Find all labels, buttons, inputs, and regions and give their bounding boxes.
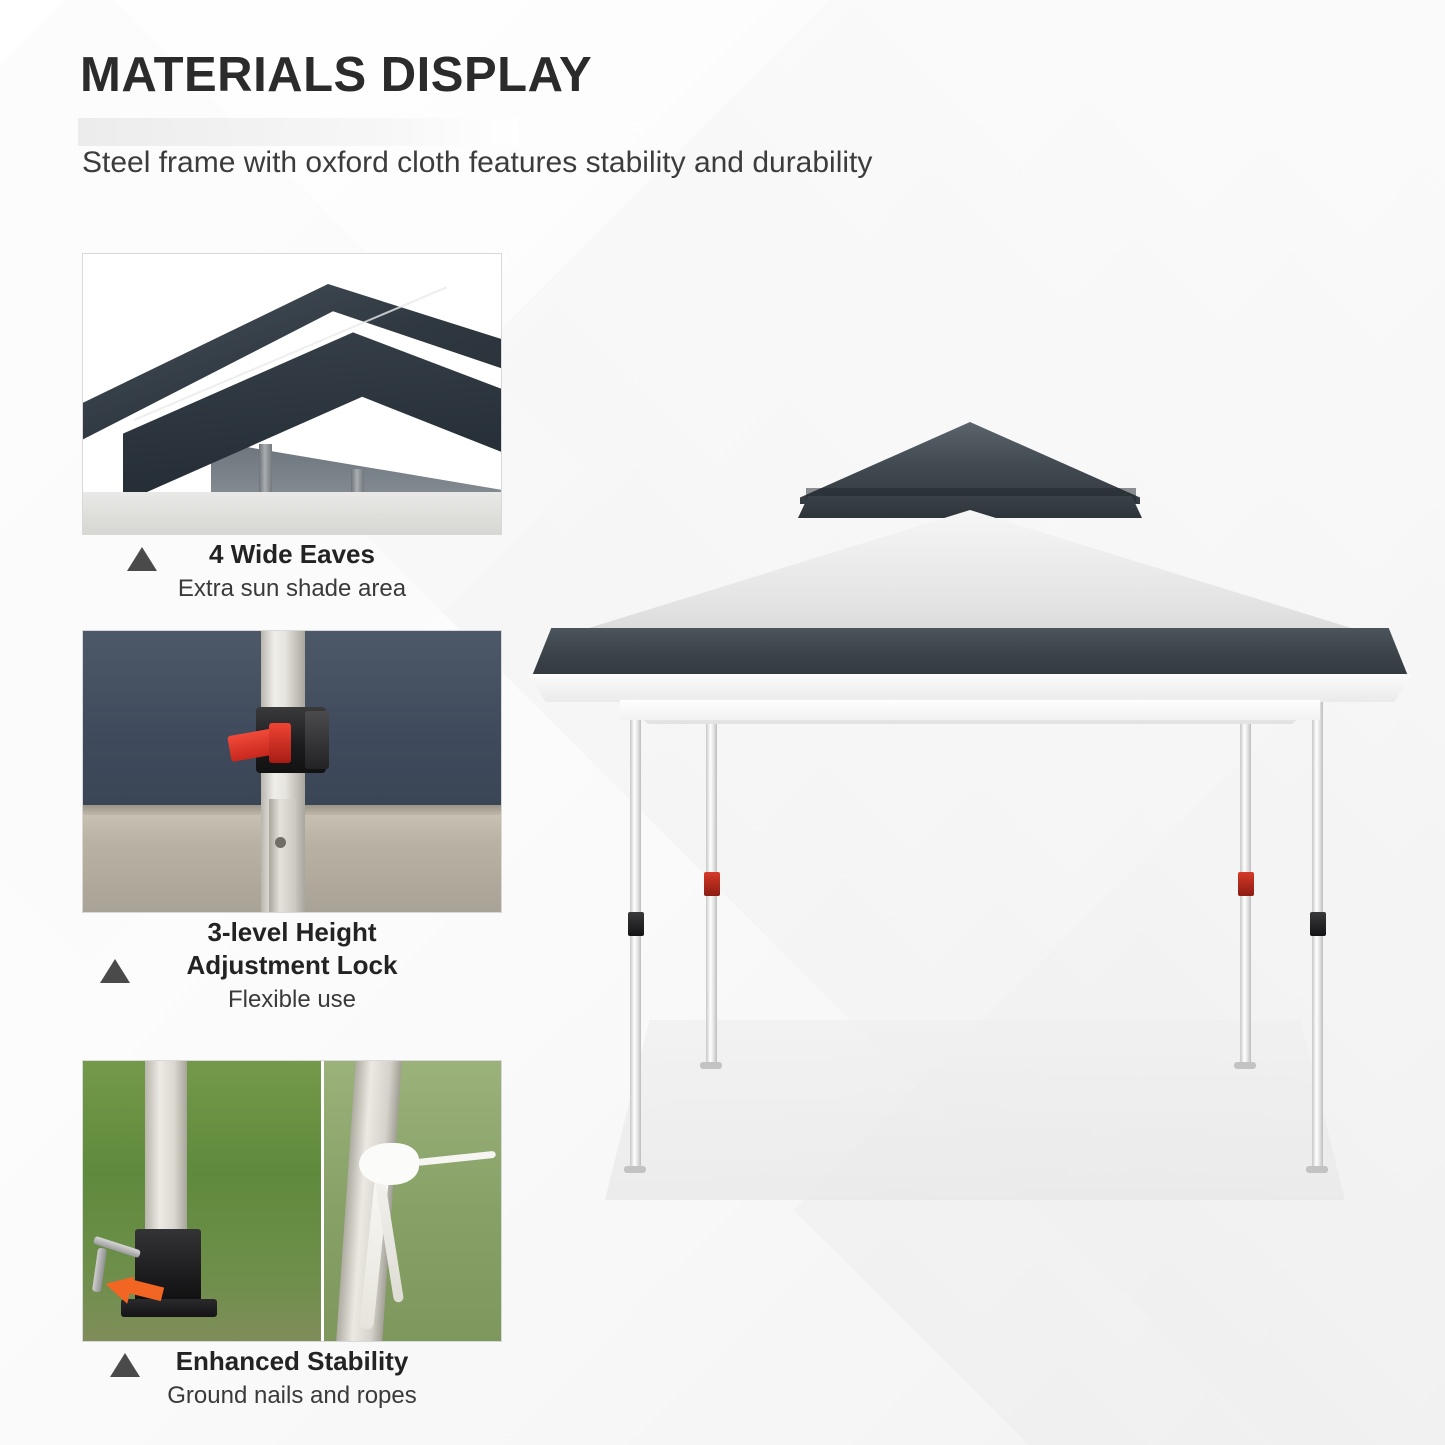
lock-housing-side <box>305 711 329 769</box>
feature-caption-eaves: 4 Wide Eaves Extra sun shade area <box>82 538 502 604</box>
gazebo-foot-front-right <box>1306 1166 1328 1173</box>
gazebo-valance <box>620 700 1320 720</box>
feature-subtext-eaves: Extra sun shade area <box>82 573 502 604</box>
feature-caption-stability: Enhanced Stability Ground nails and rope… <box>82 1345 502 1411</box>
gazebo-lock-front-right <box>1310 912 1326 936</box>
title-highlight-bar <box>78 118 518 146</box>
product-image-gazebo <box>510 400 1430 1200</box>
stability-base-plate <box>121 1299 217 1317</box>
lock-red-lever-face <box>269 723 291 763</box>
feature-caption-height-lock: 3-level Height Adjustment Lock Flexible … <box>82 916 502 1015</box>
gazebo-foot-back-right <box>1234 1062 1256 1069</box>
feature-image-height-lock <box>82 630 502 913</box>
feature-image-eaves <box>82 253 502 535</box>
gazebo-lock-back-left <box>704 872 720 896</box>
lock-pin-hole <box>275 837 286 848</box>
gazebo-eave <box>528 674 1412 702</box>
page-subtitle: Steel frame with oxford cloth features s… <box>82 146 872 180</box>
gazebo-roof-dark-band <box>532 628 1408 676</box>
stability-photo-divider <box>321 1061 324 1341</box>
feature-heading-height-lock-line1: 3-level Height <box>82 916 502 949</box>
eaves-ground <box>83 492 501 534</box>
feature-heading-stability: Enhanced Stability <box>82 1345 502 1378</box>
feature-subtext-stability: Ground nails and ropes <box>82 1380 502 1411</box>
gazebo-foot-back-left <box>700 1062 722 1069</box>
materials-display-page: MATERIALS DISPLAY Steel frame with oxfor… <box>0 0 1445 1445</box>
triangle-marker-icon <box>127 547 157 571</box>
feature-image-stability <box>82 1060 502 1342</box>
gazebo-lock-front-left <box>628 912 644 936</box>
gazebo-main-roof <box>550 510 1390 640</box>
lock-inner-pole <box>269 799 296 913</box>
gazebo-lock-back-right <box>1238 872 1254 896</box>
triangle-marker-icon <box>100 959 130 983</box>
triangle-marker-icon <box>110 1353 140 1377</box>
feature-subtext-height-lock: Flexible use <box>82 984 502 1015</box>
rope-knot <box>359 1143 419 1185</box>
page-title: MATERIALS DISPLAY <box>80 47 592 103</box>
feature-heading-height-lock-line2: Adjustment Lock <box>82 949 502 982</box>
gazebo-foot-front-left <box>624 1166 646 1173</box>
